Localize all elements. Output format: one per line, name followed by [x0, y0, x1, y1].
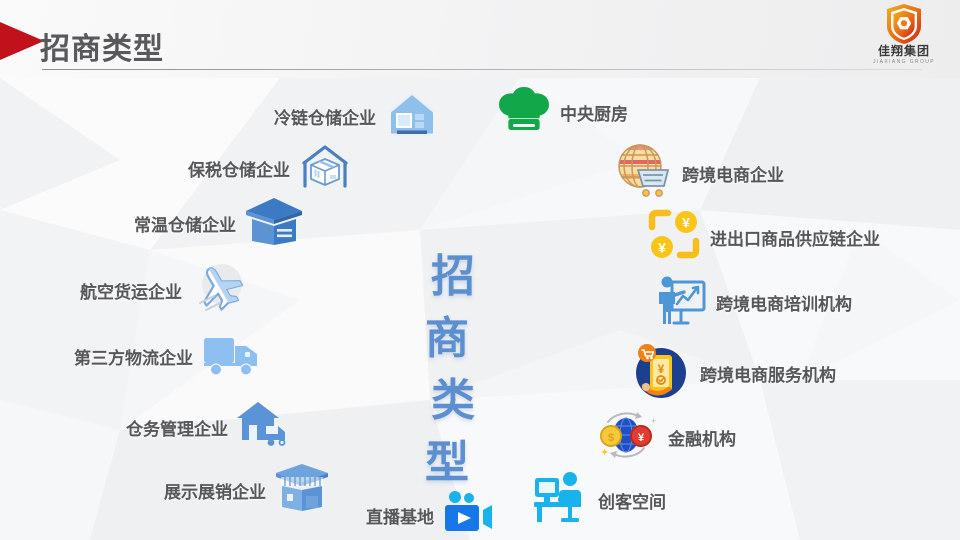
list-item-central-kitchen[interactable]: 中央厨房 [496, 84, 628, 141]
list-item-bonded-warehouse[interactable]: 保税仓储企业 [188, 141, 352, 196]
list-item-ecommerce-service[interactable]: ¥ 跨境电商服务机构 [630, 342, 836, 405]
list-item-ecommerce-training[interactable]: 跨境电商培训机构 [654, 274, 852, 331]
list-item-label: 进出口商品供应链企业 [710, 225, 880, 250]
video-camera-icon [442, 490, 494, 540]
delivery-truck-icon [201, 330, 263, 383]
list-item-maker-space[interactable]: 创客空间 [532, 470, 666, 531]
list-item-exhibition[interactable]: 展示展销企业 [164, 462, 330, 519]
maker-workstation-icon [532, 470, 590, 531]
svg-text:¥: ¥ [658, 240, 666, 256]
airplane-cargo-icon [190, 260, 250, 321]
svg-text:¥: ¥ [658, 362, 665, 376]
bonded-warehouse-box-icon [298, 141, 352, 196]
list-item-label: 常温仓储企业 [134, 211, 236, 236]
page-title: 招商类型 [40, 24, 164, 68]
center-headline-line1: 招 商 [383, 246, 523, 370]
slide-header: 招商类型 [0, 0, 960, 78]
currency-exchange-icon: $ ¥ + ✦ [594, 404, 660, 471]
logo-name-en: JIAXIANG GROUP [862, 58, 946, 66]
logo-name-cn: 佳翔集团 [862, 45, 946, 58]
list-item-label: 中央厨房 [560, 100, 628, 125]
center-headline: 招 商 类 型 [383, 246, 523, 494]
svg-text:✦: ✦ [600, 447, 609, 459]
list-item-label: 保税仓储企业 [188, 156, 290, 181]
chef-hat-icon [496, 84, 552, 141]
ambient-warehouse-icon [244, 195, 304, 252]
list-item-warehouse-management[interactable]: 仓务管理企业 [126, 400, 292, 455]
list-item-label: 航空货运企业 [80, 278, 182, 303]
house-cold-chain-icon [384, 88, 440, 145]
center-headline-line2: 类 型 [383, 370, 523, 494]
training-presenter-icon [654, 274, 708, 331]
list-item-label: 仓务管理企业 [126, 415, 228, 440]
list-item-ambient-warehouse[interactable]: 常温仓储企业 [134, 195, 304, 252]
svg-text:+: + [651, 416, 656, 426]
list-item-label: 跨境电商企业 [682, 161, 784, 186]
mobile-shopping-service-icon: ¥ [630, 342, 692, 405]
list-item-label: 跨境电商培训机构 [716, 290, 852, 315]
globe-cart-icon [612, 142, 674, 205]
list-item-label: 金融机构 [668, 425, 736, 450]
list-item-label: 创客空间 [598, 488, 666, 513]
list-item-cold-chain[interactable]: 冷链仓储企业 [274, 88, 440, 145]
slide-root: 招商类型 [0, 0, 960, 540]
list-item-import-export-supply-chain[interactable]: ¥ ¥ 进出口商品供应链企业 [646, 208, 880, 267]
exhibition-stall-icon [274, 462, 330, 519]
list-item-label: 第三方物流企业 [74, 344, 193, 369]
list-item-air-cargo[interactable]: 航空货运企业 [80, 260, 250, 321]
list-item-cross-border-ecommerce[interactable]: 跨境电商企业 [612, 142, 784, 205]
list-item-live-streaming-base[interactable]: 直播基地 [366, 490, 494, 540]
svg-text:¥: ¥ [682, 215, 690, 231]
list-item-third-party-logistics[interactable]: 第三方物流企业 [74, 330, 263, 383]
warehouse-management-icon [236, 400, 292, 455]
company-logo: 佳翔集团 JIAXIANG GROUP [862, 4, 946, 70]
yuan-coins-bracket-icon: ¥ ¥ [646, 208, 702, 267]
shield-logo-icon [887, 4, 921, 44]
svg-text:$: $ [608, 432, 614, 444]
title-underline [42, 69, 922, 70]
list-item-label: 展示展销企业 [164, 478, 266, 503]
list-item-label: 跨境电商服务机构 [700, 361, 836, 386]
svg-text:¥: ¥ [638, 432, 645, 444]
list-item-financial-institution[interactable]: $ ¥ + ✦ 金融机构 [594, 404, 736, 471]
list-item-label: 冷链仓储企业 [274, 104, 376, 129]
list-item-label: 直播基地 [366, 503, 434, 528]
